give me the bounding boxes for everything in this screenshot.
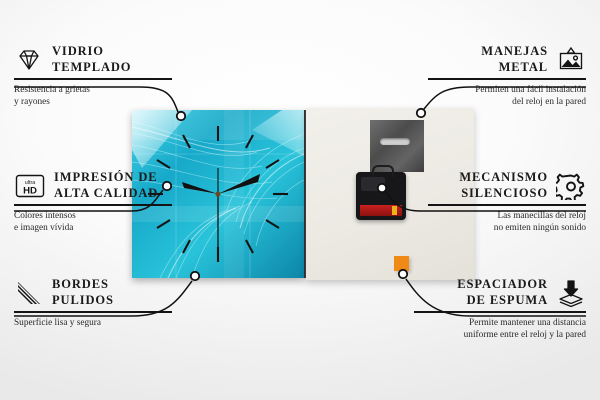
diamond-icon: [14, 47, 44, 73]
feature-espaciador-espuma: ESPACIADOR DE ESPUMA Permite mantener un…: [414, 277, 586, 342]
ultra-hd-icon: ultra HD: [14, 172, 46, 200]
hanger-slot: [380, 138, 410, 145]
feature-mecanismo-silencioso: MECANISMO SILENCIOSO Las manecillas del …: [428, 170, 586, 235]
feature-desc-line2: del reloj en la pared: [428, 96, 586, 109]
hatched-edge-icon: [14, 279, 44, 307]
feature-desc-line2: e imagen vívida: [14, 222, 172, 235]
feature-desc-line1: Colores intensos: [14, 210, 172, 223]
mechanism-hook: [372, 165, 394, 177]
clock-center-pin: [215, 191, 220, 196]
ultra-hd-icon-main-text: HD: [23, 185, 37, 196]
feature-title-line2: TEMPLADO: [52, 60, 131, 76]
battery: [360, 205, 402, 216]
feature-impresion-alta-calidad: ultra HD IMPRESIÓN DE ALTA CALIDAD Color…: [14, 170, 172, 235]
feature-desc-line1: Resistencia a grietas: [14, 84, 172, 97]
hour-hand: [182, 182, 218, 194]
title-rule: [14, 204, 172, 206]
minute-hand: [218, 174, 260, 194]
feature-vidrio-templado: VIDRIO TEMPLADO Resistencia a grietas y …: [14, 44, 172, 109]
feature-desc-line2: no emiten ningún sonido: [428, 222, 586, 235]
title-rule: [414, 311, 586, 313]
feature-title-line1: MECANISMO: [459, 170, 548, 186]
feature-title-line1: ESPACIADOR: [457, 277, 548, 293]
title-rule: [428, 78, 586, 80]
clock-mechanism: [356, 172, 406, 220]
feature-title-line2: ALTA CALIDAD: [54, 186, 158, 202]
feature-desc-line1: Superficie lisa y segura: [14, 317, 172, 330]
feature-title-line2: SILENCIOSO: [459, 186, 548, 202]
feature-title-line2: METAL: [481, 60, 548, 76]
feature-title-line1: IMPRESIÓN DE: [54, 170, 158, 186]
gear-icon: [556, 172, 586, 200]
mechanism-body-detail: [361, 177, 385, 191]
feature-desc-line1: Permiten una fácil instalación: [428, 84, 586, 97]
title-rule: [14, 311, 172, 313]
feature-manejas-metal: MANEJAS METAL Permiten una fácil instala…: [428, 44, 586, 109]
battery-terminal: [392, 206, 397, 215]
feature-title-line1: MANEJAS: [481, 44, 548, 60]
feature-desc-line2: uniforme entre el reloj y la pared: [414, 329, 586, 342]
title-rule: [428, 204, 586, 206]
arrow-down-layers-icon: [556, 279, 586, 307]
feature-desc-line2: y rayones: [14, 96, 172, 109]
picture-hanger-icon: [556, 46, 586, 74]
feature-desc-line1: Permite mantener una distancia: [414, 317, 586, 330]
title-rule: [14, 78, 172, 80]
infographic-canvas: VIDRIO TEMPLADO Resistencia a grietas y …: [0, 0, 600, 400]
feature-bordes-pulidos: BORDES PULIDOS Superficie lisa y segura: [14, 277, 172, 329]
feature-title-line1: BORDES: [52, 277, 114, 293]
feature-title-line1: VIDRIO: [52, 44, 131, 60]
feature-title-line2: DE ESPUMA: [457, 293, 548, 309]
feature-desc-line1: Las manecillas del reloj: [428, 210, 586, 223]
foam-spacer: [394, 256, 409, 271]
feature-title-line2: PULIDOS: [52, 293, 114, 309]
